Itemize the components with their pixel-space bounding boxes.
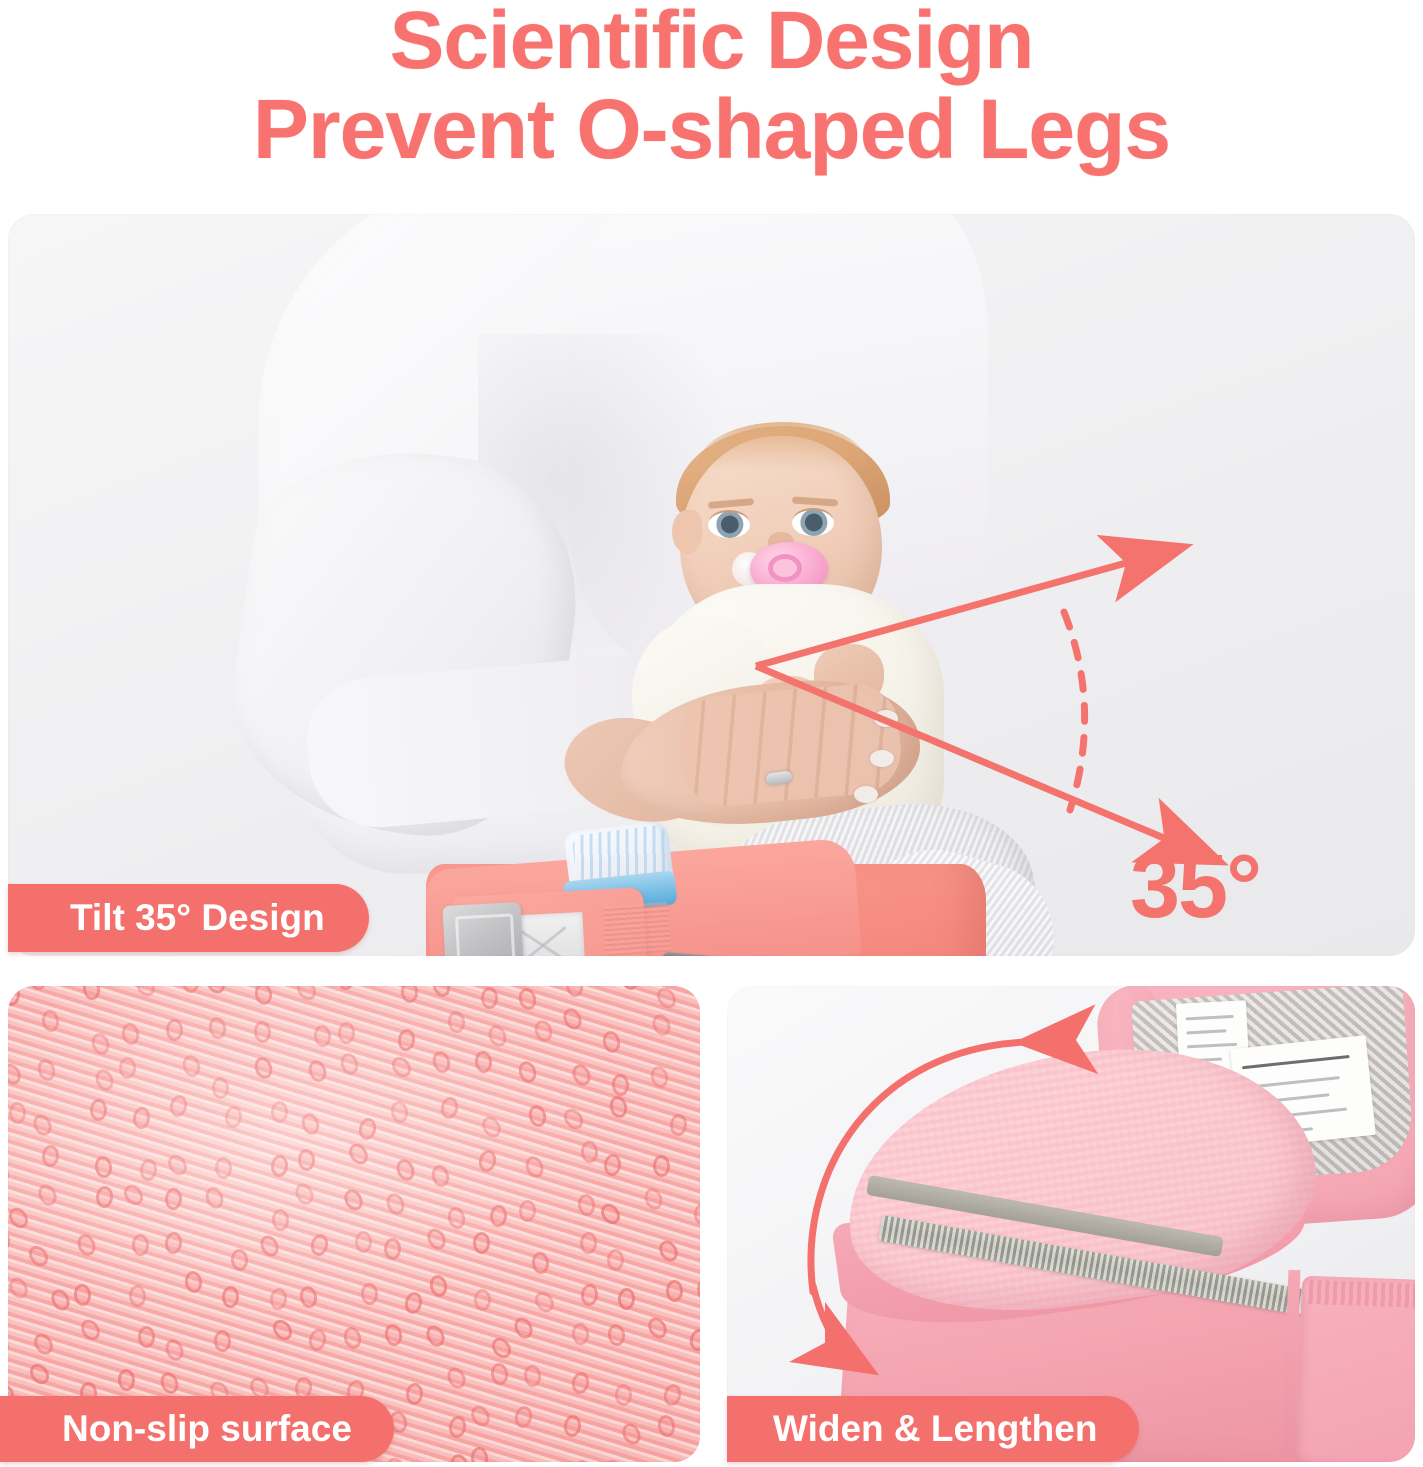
- non-slip-panel-border: [8, 986, 700, 1462]
- badge-tilt-design: Tilt 35° Design: [8, 884, 369, 952]
- hero-panel-border: [8, 214, 1415, 956]
- panel-non-slip-surface: [8, 986, 700, 1462]
- panel-widen-lengthen: [727, 986, 1415, 1462]
- widen-panel-border: [727, 986, 1415, 1462]
- product-infographic: Scientific Design Prevent O-shaped Legs: [0, 0, 1423, 1467]
- badge-widen-label: Widen & Lengthen: [773, 1408, 1097, 1450]
- hero-image-panel: 35°: [8, 214, 1415, 956]
- badge-widen-lengthen: Widen & Lengthen: [727, 1396, 1139, 1462]
- badge-non-slip: Non-slip surface: [0, 1396, 394, 1462]
- title-line-2: Prevent O-shaped Legs: [0, 89, 1423, 170]
- title-line-1: Scientific Design: [0, 2, 1423, 81]
- badge-non-slip-label: Non-slip surface: [62, 1408, 352, 1450]
- page-title: Scientific Design Prevent O-shaped Legs: [0, 2, 1423, 169]
- badge-tilt-label: Tilt 35° Design: [70, 897, 325, 939]
